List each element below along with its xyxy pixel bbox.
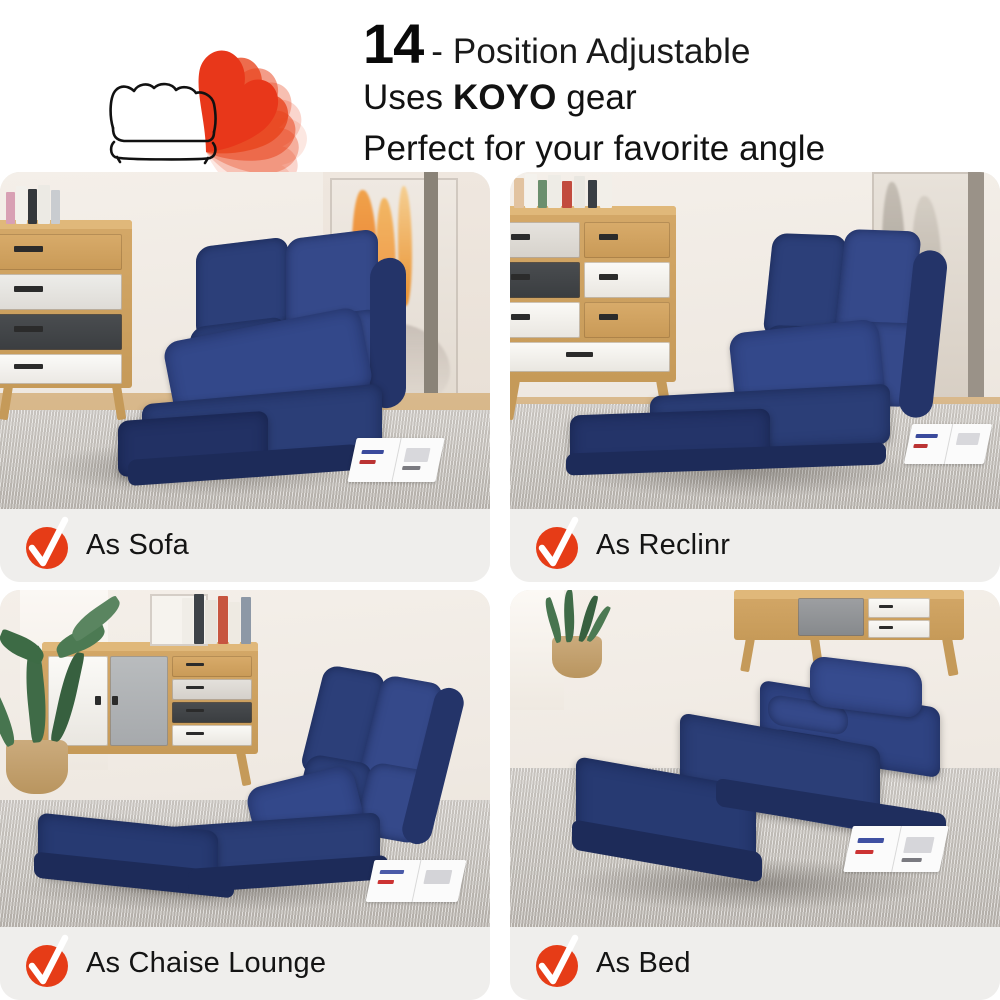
caption-label: As Chaise Lounge: [86, 947, 326, 980]
headline-2: Uses KOYO gear: [363, 80, 637, 115]
red-check-badge-icon: [24, 523, 70, 569]
infographic-page: 14 - Position Adjustable Uses KOYO gear …: [0, 0, 1000, 1000]
red-check-badge-icon: [534, 941, 580, 987]
headline-2-suffix: gear: [556, 78, 636, 117]
photo-as-bed: [510, 590, 1000, 927]
feature-card-grid: As Sofa: [0, 172, 1000, 1000]
photo-as-recliner: [510, 172, 1000, 509]
card-as-bed[interactable]: As Bed: [510, 590, 1000, 1000]
brand-name: KOYO: [453, 78, 556, 117]
photo-as-sofa: [0, 172, 490, 509]
header-text-block: 14 - Position Adjustable Uses KOYO gear …: [363, 8, 983, 168]
photo-as-chaise-lounge: [0, 590, 490, 927]
headline-2-prefix: Uses: [363, 78, 453, 117]
sofa-base-outline-icon: [104, 62, 239, 167]
red-check-badge-icon: [24, 941, 70, 987]
card-as-chaise-lounge[interactable]: As Chaise Lounge: [0, 590, 490, 1000]
caption-as-chaise-lounge: As Chaise Lounge: [0, 927, 490, 1000]
caption-label: As Bed: [596, 947, 691, 980]
caption-as-recliner: As Reclinr: [510, 509, 1000, 582]
card-as-sofa[interactable]: As Sofa: [0, 172, 490, 582]
red-check-badge-icon: [534, 523, 580, 569]
logo: [96, 6, 346, 166]
caption-as-bed: As Bed: [510, 927, 1000, 1000]
headline-3: Perfect for your favorite angle: [363, 131, 825, 166]
caption-as-sofa: As Sofa: [0, 509, 490, 582]
headline-1: 14 - Position Adjustable: [363, 16, 751, 72]
caption-label: As Sofa: [86, 529, 189, 562]
position-count: 14: [363, 16, 423, 72]
headline-1-rest: - Position Adjustable: [431, 34, 750, 69]
header: 14 - Position Adjustable Uses KOYO gear …: [0, 0, 1000, 170]
caption-label: As Reclinr: [596, 529, 730, 562]
card-as-recliner[interactable]: As Reclinr: [510, 172, 1000, 582]
